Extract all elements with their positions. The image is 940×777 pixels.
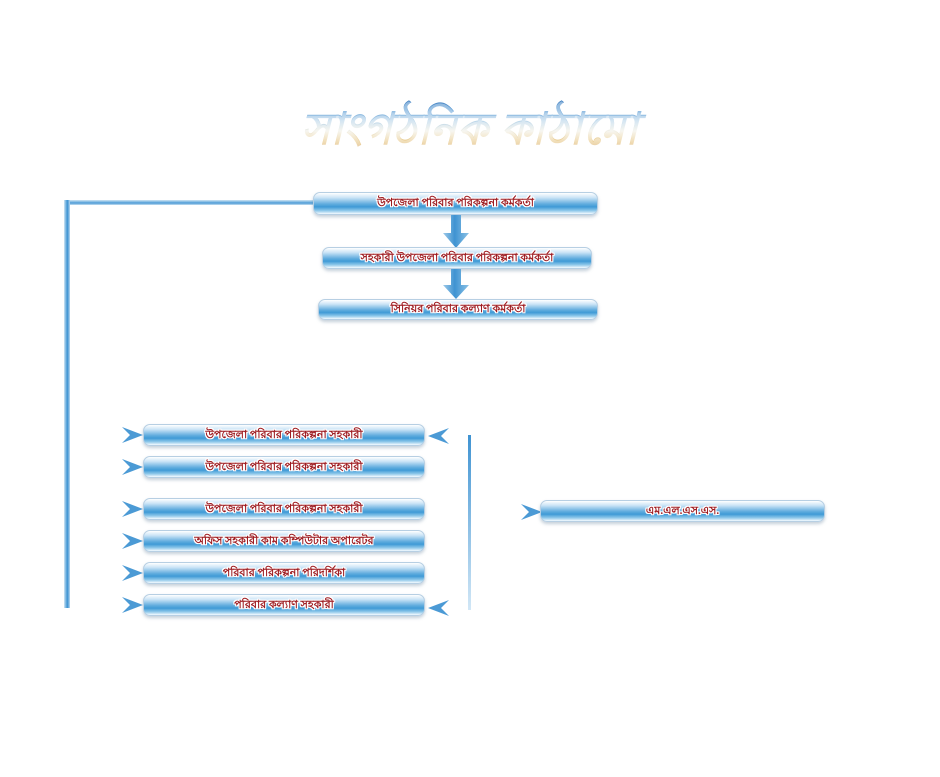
node-upazila-family-planning-assistant-2[interactable]: উপজেলা পরিবার পরিকল্পনা সহকারী: [143, 456, 425, 478]
node-assistant-upazila-family-planning-officer[interactable]: সহকারী উপজেলা পরিবার পরিকল্পনা কর্মকর্তা: [322, 247, 592, 269]
node-label: পরিবার কল্যাণ সহকারী: [234, 600, 334, 611]
node-family-planning-inspector[interactable]: পরিবার পরিকল্পনা পরিদর্শিকা: [143, 562, 425, 584]
node-label: অফিস সহকারী কাম কম্পিউটার অপারেটর: [194, 536, 373, 547]
node-upazila-family-planning-officer[interactable]: উপজেলা পরিবার পরিকল্পনা কর্মকর্তা: [313, 192, 598, 215]
node-label: উপজেলা পরিবার পরিকল্পনা কর্মকর্তা: [377, 198, 534, 209]
spine-top-horizontal: [64, 200, 319, 205]
org-chart-canvas: সাংগঠনিক কাঠামো উপ: [0, 0, 940, 777]
node-label: উপজেলা পরিবার পরিকল্পনা সহকারী: [205, 462, 362, 473]
node-office-assistant-cum-computer-operator[interactable]: অফিস সহকারী কাম কম্পিউটার অপারেটর: [143, 530, 425, 552]
page-title: সাংগঠনিক কাঠামো: [0, 96, 940, 169]
down-arrow-officer-to-assistant: [440, 215, 472, 248]
node-label: এম.এল.এস.এস.: [646, 506, 719, 517]
node-mlss[interactable]: এম.এল.এস.এস.: [540, 500, 825, 522]
node-family-welfare-assistant[interactable]: পরিবার কল্যাণ সহকারী: [143, 594, 425, 616]
node-label: সহকারী উপজেলা পরিবার পরিকল্পনা কর্মকর্তা: [361, 253, 554, 264]
node-label: সিনিয়র পরিবার কল্যাণ কর্মকর্তা: [391, 304, 526, 315]
down-arrow-assistant-to-senior: [440, 269, 472, 299]
node-senior-family-welfare-officer[interactable]: সিনিয়র পরিবার কল্যাণ কর্মকর্তা: [318, 299, 598, 320]
node-label: পরিবার পরিকল্পনা পরিদর্শিকা: [223, 568, 345, 579]
node-label: উপজেলা পরিবার পরিকল্পনা সহকারী: [205, 504, 362, 515]
spine-branch-arrows: [64, 424, 154, 614]
node-label: উপজেলা পরিবার পরিকল্পনা সহকারী: [205, 430, 362, 441]
mlss-connector-arrows: [425, 427, 550, 613]
node-upazila-family-planning-assistant-3[interactable]: উপজেলা পরিবার পরিকল্পনা সহকারী: [143, 498, 425, 520]
node-upazila-family-planning-assistant-1[interactable]: উপজেলা পরিবার পরিকল্পনা সহকারী: [143, 424, 425, 446]
